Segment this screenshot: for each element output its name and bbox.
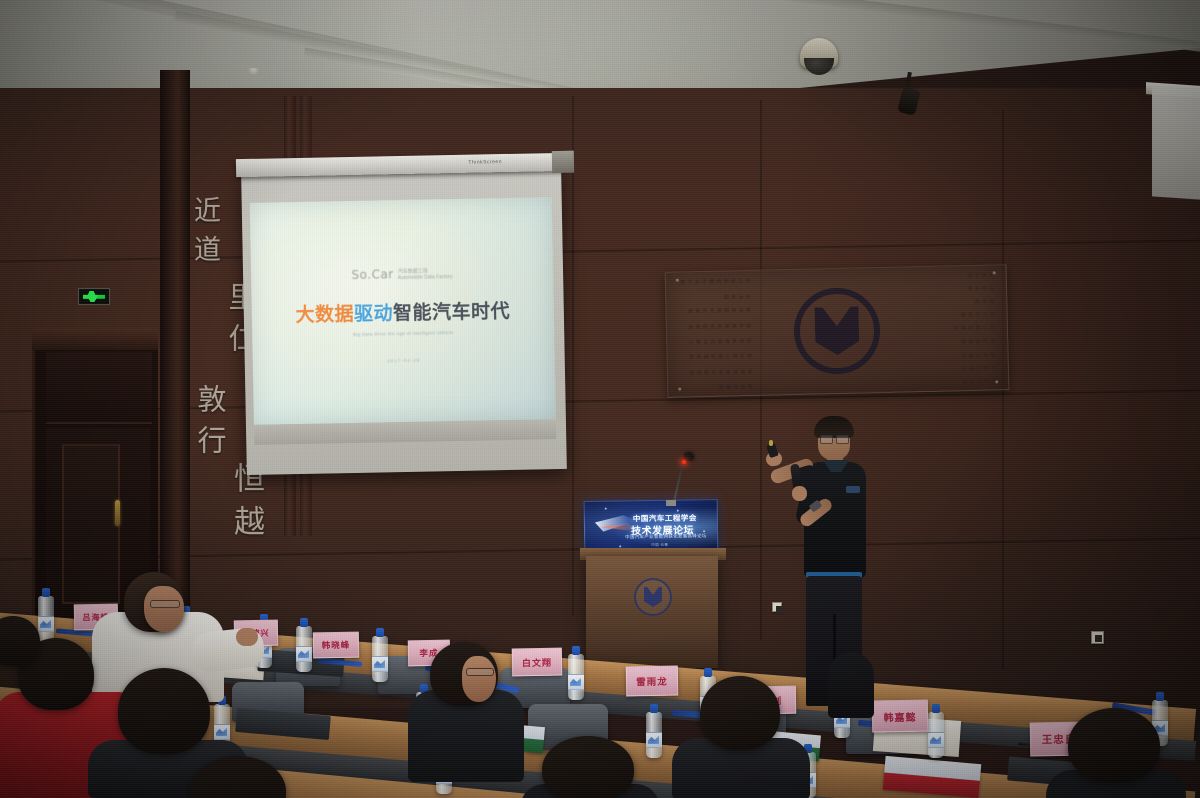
nameplate: 韩晓峰	[313, 632, 359, 659]
microphone-base	[666, 500, 676, 506]
slide-title-dark: 智能汽车时代	[393, 300, 510, 324]
emergency-exit-sign	[78, 288, 110, 305]
screen-brand-label: ThinkScreen	[468, 159, 502, 166]
audience-member-face	[144, 586, 184, 632]
wall-calligraphy-col1-a: 近道	[186, 196, 225, 274]
nameplate: 雷雨龙	[626, 666, 679, 697]
audience-member-head	[118, 668, 210, 754]
glasses-icon	[820, 434, 849, 441]
water-bottle	[372, 636, 388, 682]
conference-hall-photo: 近道 里仁 敦行 恒越 大学之道 在明明德 在亲民 在止于至善 知止而后有定 定…	[0, 0, 1200, 798]
slide-logo-subtext: 汽车数据工场 Automobile Data Factory	[398, 266, 453, 282]
audience-member-body	[828, 652, 874, 718]
plaque-text-right: 大学之道 在明明德 在亲民 在止于至善 知止而后有定 定而后能静 静而后能安 安…	[950, 272, 996, 385]
audience-member-hand	[236, 628, 258, 646]
audience-member-head	[700, 676, 780, 750]
screen-bracket	[552, 151, 574, 173]
audience-member-face	[462, 656, 496, 702]
audience-member-head	[1068, 708, 1160, 782]
microphone-status-led	[682, 460, 686, 464]
slide-logo: So.Car 汽车数据工场 Automobile Data Factory	[351, 266, 453, 282]
door-panel	[62, 444, 120, 604]
nameplate-label: 白文翔	[522, 655, 552, 669]
nameplate-label: 雷雨龙	[636, 674, 668, 689]
plaque-text-left: 古之欲明明德于天下者 先治其国 欲治其国者先齐其家 欲齐其家者先修其身 欲修其身…	[678, 278, 753, 392]
door-transom	[46, 352, 152, 424]
water-bottle	[38, 596, 54, 642]
water-bottle	[928, 712, 944, 758]
bottle-label	[568, 674, 584, 690]
bottle-label	[38, 616, 54, 632]
slide-title-orange: 大数据	[295, 303, 354, 326]
slide-logo-wordmark: So.Car	[351, 267, 393, 282]
bottle-label	[928, 732, 944, 748]
running-man-icon	[83, 291, 105, 302]
slide-title-blue: 驱动	[354, 302, 393, 325]
presenter-right-hand	[792, 486, 807, 501]
university-emblem	[793, 287, 881, 375]
nameplate-label: 韩嘉懿	[883, 708, 916, 724]
glasses-icon	[466, 668, 494, 676]
water-bottle	[568, 654, 584, 700]
podium-emblem	[634, 578, 672, 616]
nameplate-label: 韩晓峰	[322, 639, 351, 651]
door-header	[32, 328, 158, 350]
podium-microphone-icon	[684, 452, 694, 461]
projection-screen: So.Car 汽车数据工场 Automobile Data Factory 大数…	[241, 169, 567, 475]
university-motto-plaque: 大学之道 在明明德 在亲民 在止于至善 知止而后有定 定而后能静 静而后能安 安…	[665, 264, 1010, 398]
bottle-label	[372, 656, 388, 672]
wall-power-socket[interactable]	[1091, 631, 1104, 644]
emblem-m-icon	[814, 307, 859, 356]
nameplate: 白文翔	[512, 648, 562, 677]
slide-surface: So.Car 汽车数据工场 Automobile Data Factory 大数…	[250, 197, 556, 425]
secondary-projection-screen	[1152, 86, 1200, 199]
nameplate: 韩嘉懿	[872, 700, 929, 733]
banner-subtitle: 中国汽车产业智能网联化发展高峰论坛	[625, 533, 707, 540]
bottle-label	[296, 646, 312, 662]
slide-date: 2017-04-25	[387, 357, 420, 363]
bottle-label	[214, 724, 230, 740]
clicker-tip	[769, 440, 773, 446]
water-bottle	[646, 712, 662, 758]
glasses-icon	[150, 600, 180, 608]
door-handle[interactable]	[115, 500, 120, 526]
wall-seam	[572, 96, 574, 616]
podium-emblem-m-icon	[644, 587, 662, 607]
water-bottle	[296, 626, 312, 672]
slide-title: 大数据驱动智能汽车时代	[295, 296, 510, 327]
bottle-label	[646, 732, 662, 748]
audience-member-head	[542, 736, 634, 798]
slide-subtitle: Big Data Drive the Age of Intelligent Ve…	[353, 330, 453, 337]
presenter-shirt-logo	[846, 486, 860, 493]
wall-calligraphy-col2-a: 敦行	[188, 384, 230, 466]
